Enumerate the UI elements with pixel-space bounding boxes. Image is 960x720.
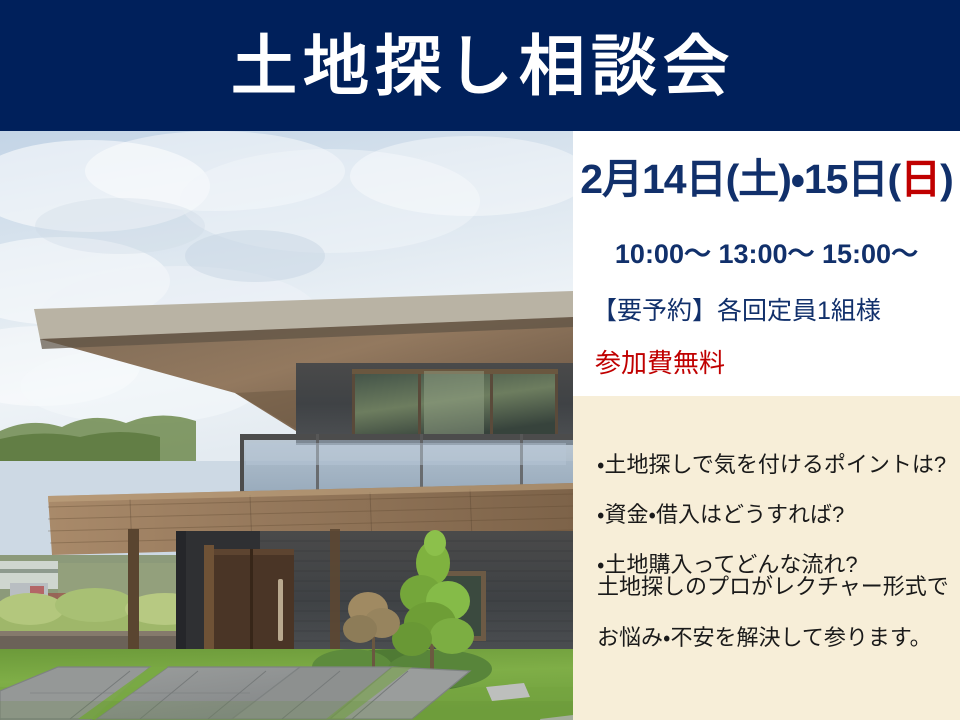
list-item: ・土地探しで気を付けるポイントは? [597, 454, 957, 476]
house-photo-illustration [0, 131, 573, 720]
header-band: 土地探し相談会 [0, 0, 960, 131]
list-item: ・土地購入ってどんな流れ? [597, 554, 957, 576]
list-item: ・資金・借入はどうすれば? [597, 504, 957, 526]
event-date-suffix: ) [940, 156, 953, 202]
flyer-root: 土地探し相談会 [0, 0, 960, 720]
page-title: 土地探し相談会 [225, 33, 735, 99]
house-photo [0, 131, 573, 720]
event-date-prefix: 2月14日(土)・15日( [580, 156, 900, 202]
fee-note: 参加費無料 [595, 350, 725, 376]
event-date-sunday: 日 [900, 156, 940, 202]
event-date: 2月14日(土)・15日(日) [573, 159, 960, 200]
info-column: 2月14日(土)・15日(日) 10:00〜 13:00〜 15:00〜 【要予… [573, 131, 960, 720]
closing-line: 土地探しのプロがレクチャー形式で [597, 576, 957, 598]
closing-message: 土地探しのプロがレクチャー形式で お悩み・不安を解決して参ります。 [597, 576, 957, 678]
reservation-note: 【要予約】各回定員1組様 [592, 299, 881, 324]
info-panel: ・土地探しで気を付けるポイントは? ・資金・借入はどうすれば? ・土地購入ってど… [573, 396, 960, 720]
event-times: 10:00〜 13:00〜 15:00〜 [573, 241, 960, 268]
closing-line: お悩み・不安を解決して参ります。 [597, 627, 957, 649]
